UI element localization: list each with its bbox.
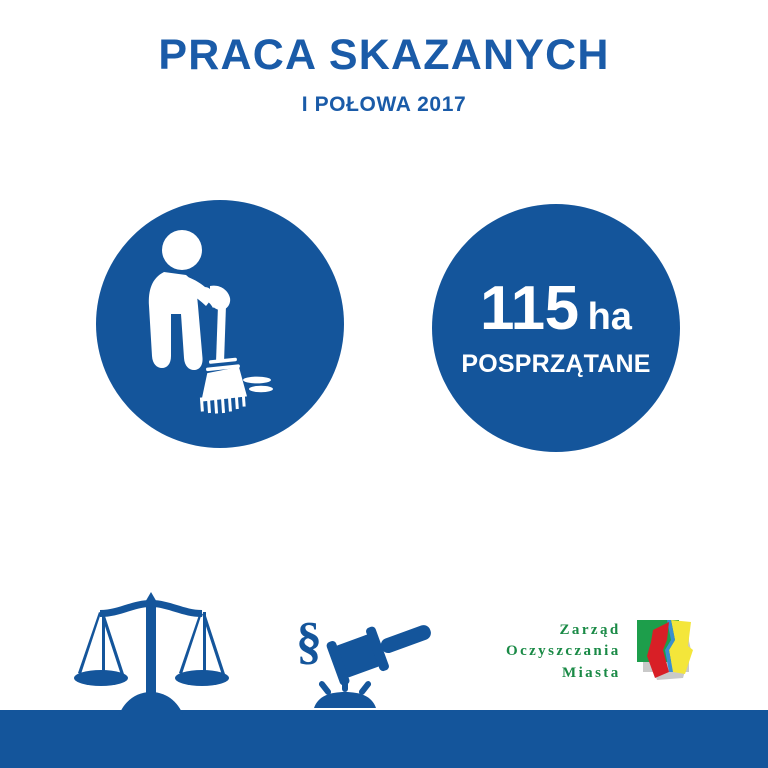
header: PRACA SKAZANYCH I POŁOWA 2017 [0,0,768,117]
infographic-canvas: PRACA SKAZANYCH I POŁOWA 2017 [0,0,768,768]
stat-circle: 115 ha POSPRZĄTANE [432,204,680,452]
stat-value-row: 115 ha [480,278,632,340]
street-sweeper-icon [140,228,300,418]
logo-line-1: Zarząd [506,620,621,641]
stat-label: POSPRZĄTANE [461,340,650,379]
footer-band [0,710,768,768]
zom-logo: Zarząd Oczyszczania Miasta [506,616,697,688]
scales-of-justice-icon [58,588,244,718]
section-sign-icon: § [296,613,322,670]
stat-unit: ha [579,298,632,336]
stat-content: 115 ha POSPRZĄTANE [432,204,680,452]
gavel-icon: § [292,612,442,708]
page-subtitle: I POŁOWA 2017 [0,77,768,117]
worker-circle [96,200,344,448]
logo-line-2: Oczyszczania [506,641,621,662]
stat-value: 115 [480,278,579,340]
logo-line-3: Miasta [506,663,621,684]
zom-map-emblem-icon [631,616,697,688]
zom-logo-text: Zarząd Oczyszczania Miasta [506,620,631,684]
page-title: PRACA SKAZANYCH [0,34,768,77]
